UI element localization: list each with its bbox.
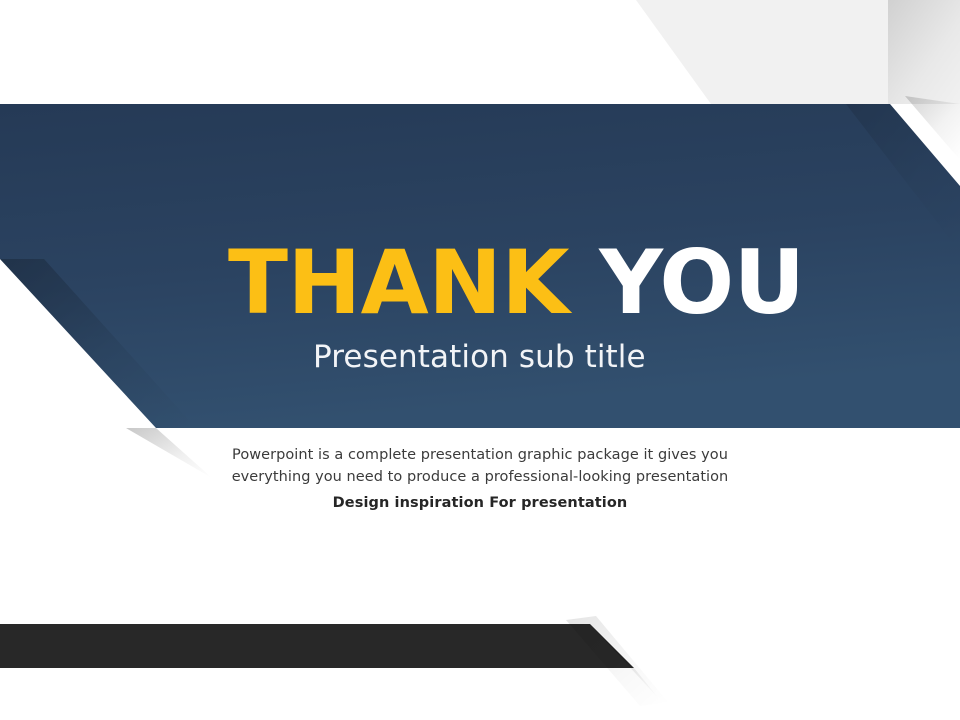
tagline: Design inspiration For presentation bbox=[0, 495, 960, 511]
body-paragraph: Powerpoint is a complete presentation gr… bbox=[0, 444, 960, 488]
page-subtitle: Presentation sub title bbox=[0, 339, 960, 377]
body-line-1: Powerpoint is a complete presentation gr… bbox=[0, 444, 960, 466]
slide-canvas: THANK YOU Presentation sub title Powerpo… bbox=[0, 0, 960, 720]
title-line: THANK YOU bbox=[228, 240, 960, 326]
body-line-2: everything you need to produce a profess… bbox=[0, 466, 960, 488]
title-accent-word: THANK bbox=[228, 231, 569, 334]
page-title: THANK YOU bbox=[0, 240, 960, 326]
slide-text-layer: THANK YOU Presentation sub title Powerpo… bbox=[0, 0, 960, 720]
title-plain-word: YOU bbox=[569, 231, 805, 334]
